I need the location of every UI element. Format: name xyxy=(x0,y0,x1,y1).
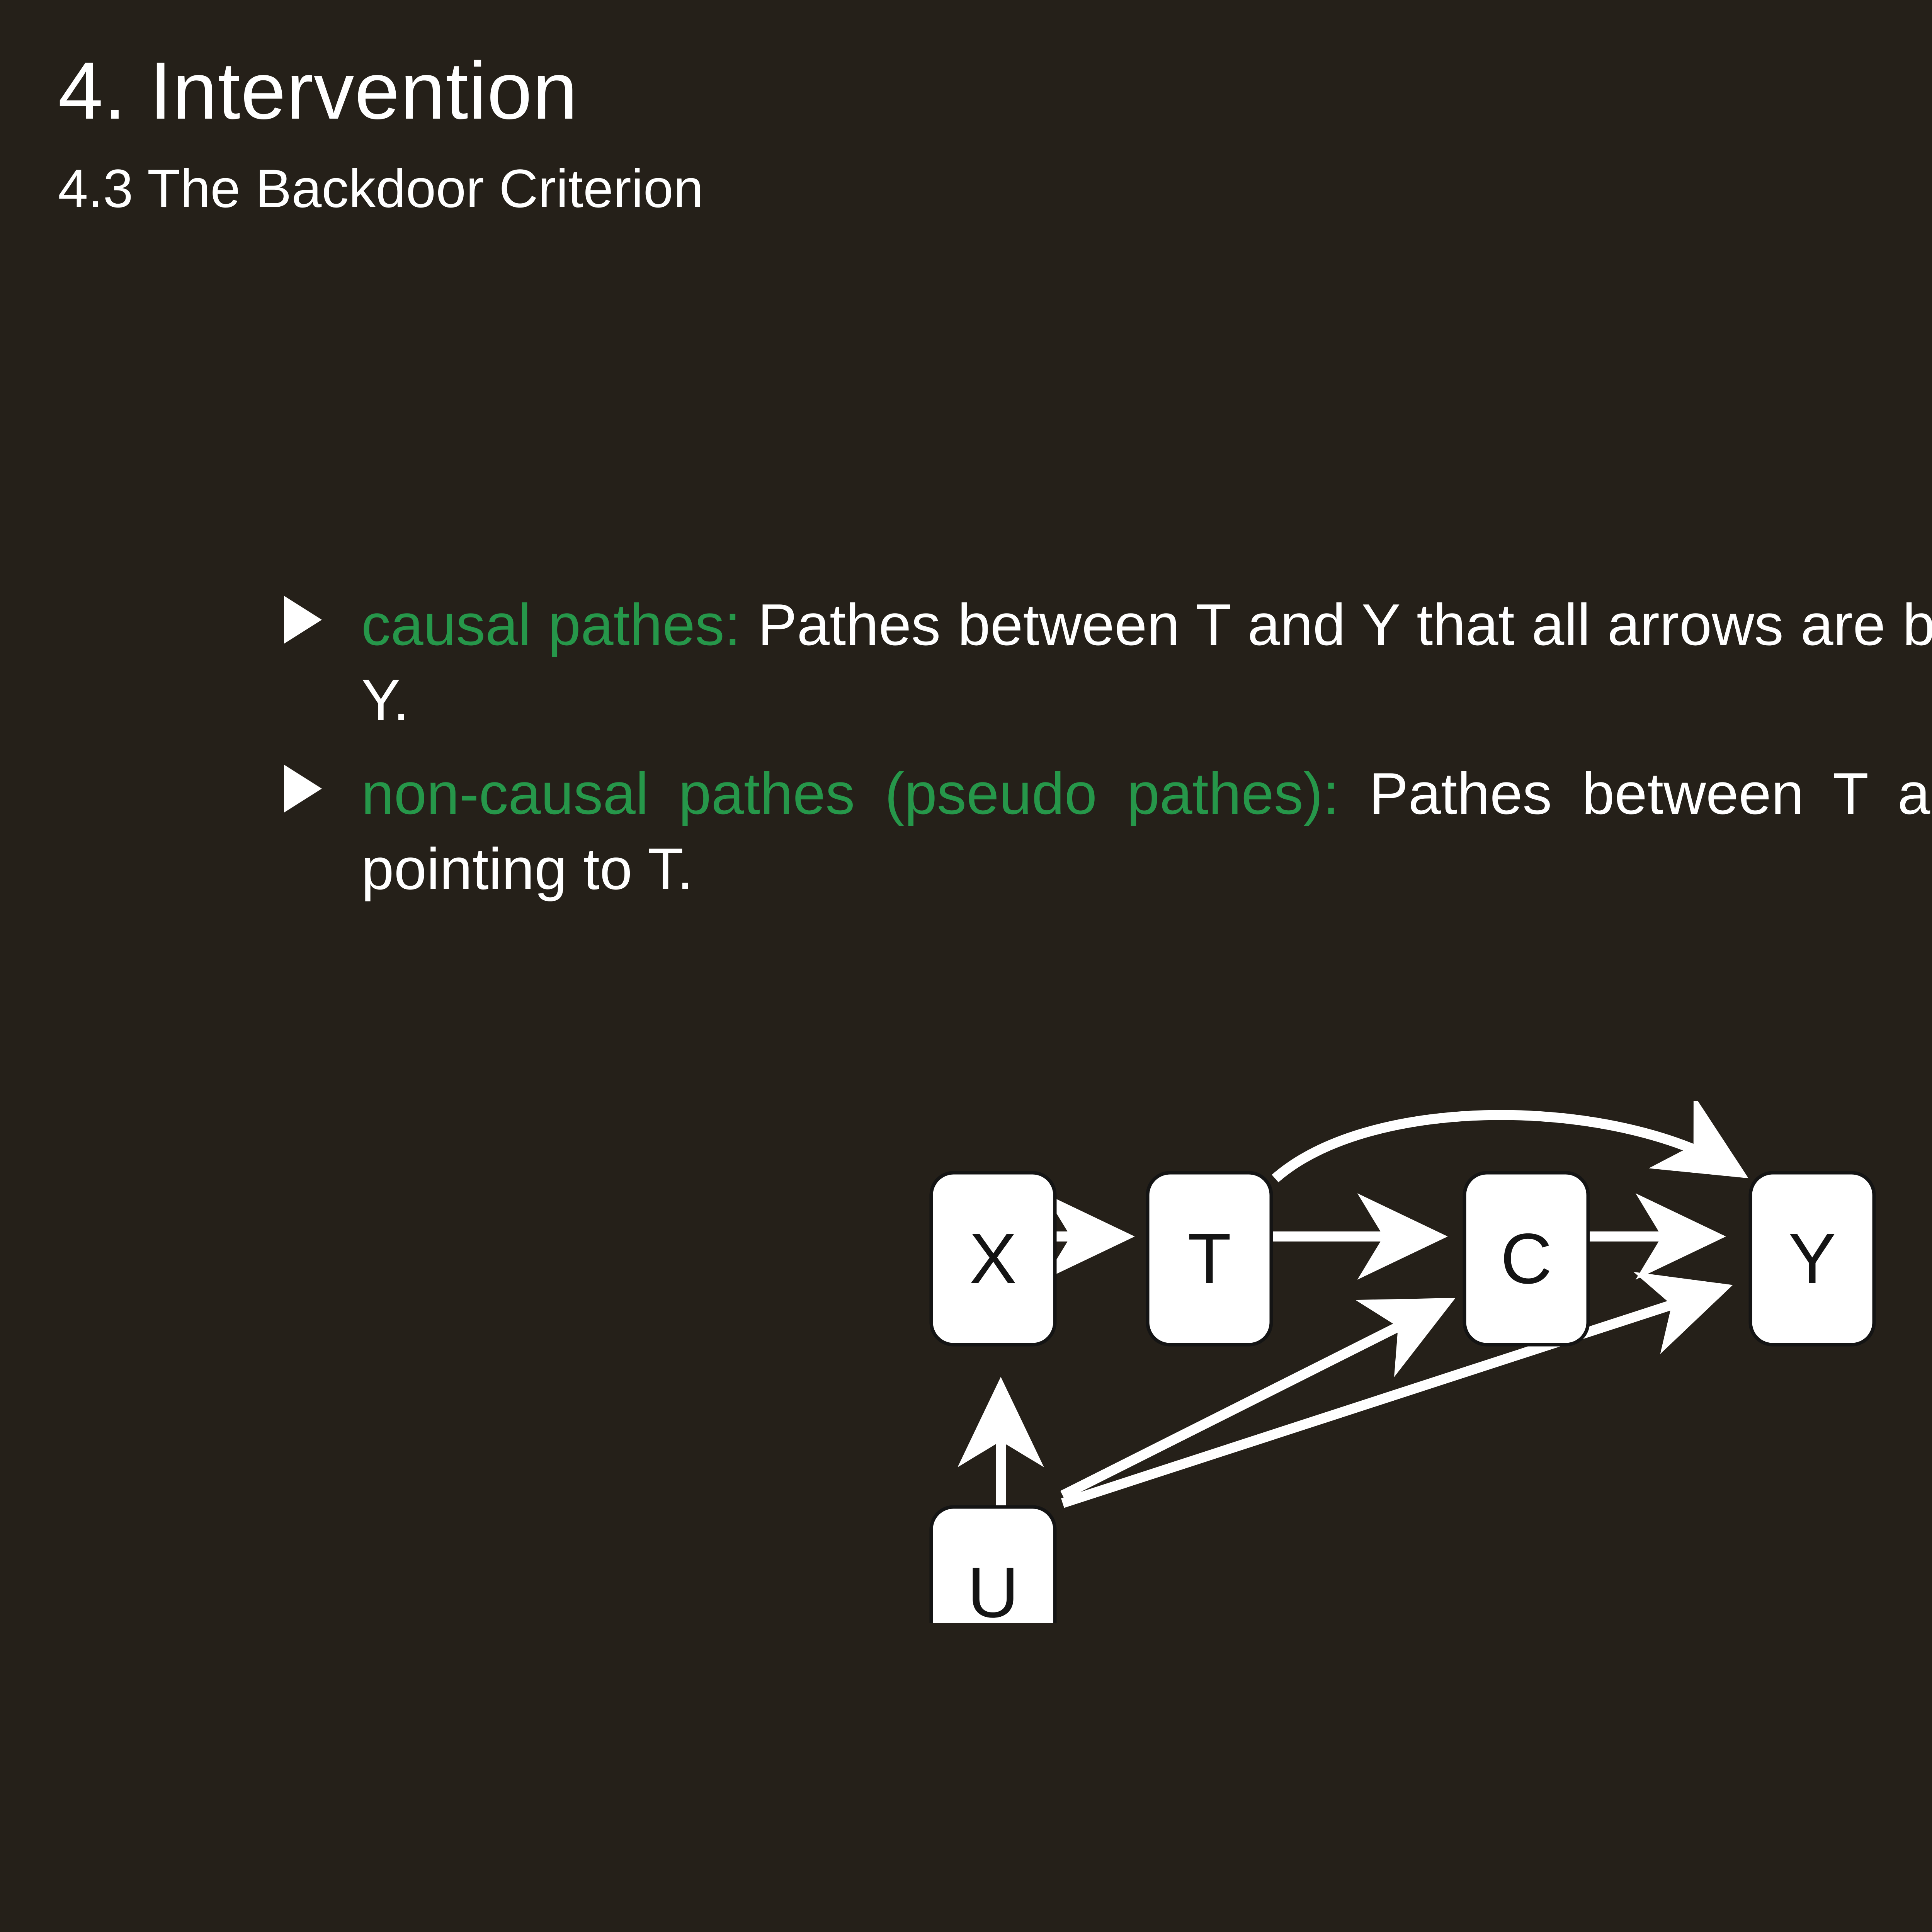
dag-node-c[interactable]: C xyxy=(1464,1173,1588,1345)
bullet-text-noncausal: non-causal pathes (pseudo pathes): Pathe… xyxy=(361,756,1932,906)
causal-dag-diagram: X T C Y U xyxy=(889,1101,1932,1623)
page-subtitle: 4.3 The Backdoor Criterion xyxy=(58,162,1932,216)
svg-text:X: X xyxy=(969,1219,1017,1299)
bullet-text-causal: causal pathes: Pathes between T and Y th… xyxy=(361,587,1932,738)
list-item: non-causal pathes (pseudo pathes): Pathe… xyxy=(0,756,1932,906)
dag-node-y[interactable]: Y xyxy=(1750,1173,1874,1345)
dag-node-t[interactable]: T xyxy=(1148,1173,1271,1345)
dag-node-x[interactable]: X xyxy=(931,1173,1055,1345)
bullet-highlight-label: causal pathes: xyxy=(361,592,741,658)
bullet-highlight-label: non-causal pathes (pseudo pathes): xyxy=(361,761,1339,827)
svg-text:C: C xyxy=(1500,1219,1552,1299)
svg-text:U: U xyxy=(967,1553,1019,1623)
dag-edges xyxy=(1001,1115,1733,1511)
edge-t-to-y-arc xyxy=(1275,1115,1733,1179)
triangle-bullet-icon xyxy=(0,587,361,645)
triangle-bullet-icon xyxy=(0,756,361,814)
page-title: 4. Intervention xyxy=(58,50,1932,131)
dag-node-u[interactable]: U xyxy=(931,1507,1055,1623)
slide-root: 4. Intervention 4.3 The Backdoor Criteri… xyxy=(0,0,1932,1932)
svg-text:T: T xyxy=(1187,1219,1231,1299)
svg-text:Y: Y xyxy=(1788,1219,1836,1299)
list-item: causal pathes: Pathes between T and Y th… xyxy=(0,587,1932,738)
slide-header: 4. Intervention 4.3 The Backdoor Criteri… xyxy=(58,50,1932,216)
bullet-list: causal pathes: Pathes between T and Y th… xyxy=(0,587,1932,925)
